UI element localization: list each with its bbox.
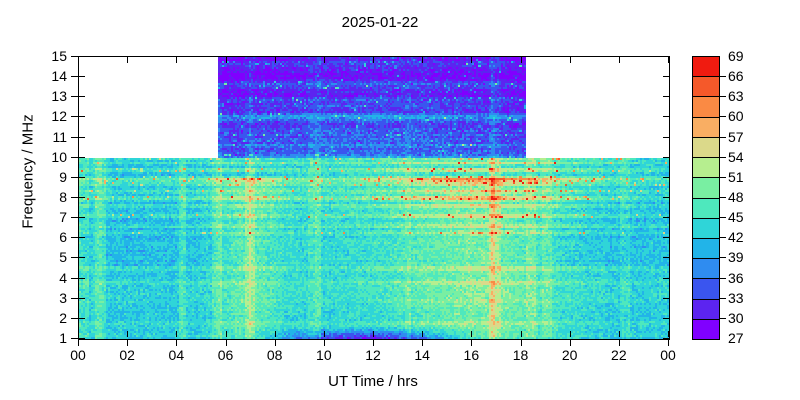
x-tick-label: 00 — [60, 348, 96, 362]
x-tick-mark-inner — [619, 331, 620, 337]
x-tick-mark-top — [521, 57, 522, 63]
y-tick-mark-right — [663, 237, 669, 238]
y-tick-mark-inner — [79, 137, 85, 138]
x-tick-label: 02 — [109, 348, 145, 362]
y-tick-label: 3 — [27, 291, 67, 305]
colorbar-band — [693, 258, 719, 278]
colorbar-tick-label: 27 — [728, 331, 768, 345]
x-tick-label: 16 — [453, 348, 489, 362]
y-tick-mark-right — [663, 96, 669, 97]
colorbar-tick-mark — [720, 76, 726, 77]
x-tick-mark — [521, 339, 522, 346]
y-tick-mark-right — [663, 257, 669, 258]
y-tick-mark — [71, 177, 78, 178]
x-tick-label: 06 — [208, 348, 244, 362]
y-tick-mark-inner — [79, 298, 85, 299]
colorbar-tick-mark — [720, 177, 726, 178]
x-tick-mark-top — [570, 57, 571, 63]
x-tick-mark — [324, 339, 325, 346]
colorbar[interactable] — [692, 56, 720, 340]
y-tick-mark-right — [663, 157, 669, 158]
colorbar-tick-label: 51 — [728, 170, 768, 184]
colorbar-tick-label: 42 — [728, 230, 768, 244]
y-tick-mark-inner — [79, 56, 85, 57]
x-tick-mark — [275, 339, 276, 346]
colorbar-tick-label: 66 — [728, 69, 768, 83]
x-tick-mark-inner — [570, 331, 571, 337]
colorbar-tick-mark — [720, 237, 726, 238]
colorbar-band — [693, 299, 719, 319]
y-tick-mark-right — [663, 298, 669, 299]
x-tick-mark-top — [275, 57, 276, 63]
x-tick-mark — [78, 339, 79, 346]
y-tick-mark — [71, 237, 78, 238]
colorbar-band — [693, 319, 719, 339]
heatmap-canvas[interactable] — [79, 57, 669, 339]
heatmap-plot-area[interactable] — [78, 56, 670, 340]
y-tick-mark-inner — [79, 338, 85, 339]
y-tick-mark — [71, 278, 78, 279]
colorbar-tick-label: 30 — [728, 311, 768, 325]
y-tick-mark-inner — [79, 278, 85, 279]
y-tick-label: 2 — [27, 311, 67, 325]
x-tick-label: 08 — [257, 348, 293, 362]
x-tick-mark-inner — [668, 331, 669, 337]
x-tick-mark — [226, 339, 227, 346]
colorbar-tick-label: 45 — [728, 210, 768, 224]
x-tick-mark-top — [422, 57, 423, 63]
x-tick-mark-inner — [373, 331, 374, 337]
colorbar-tick-label: 63 — [728, 89, 768, 103]
y-tick-mark — [71, 217, 78, 218]
colorbar-band — [693, 278, 719, 298]
y-tick-mark — [71, 76, 78, 77]
colorbar-band — [693, 198, 719, 218]
x-tick-mark-top — [226, 57, 227, 63]
colorbar-tick-label: 69 — [728, 49, 768, 63]
colorbar-tick-mark — [720, 278, 726, 279]
colorbar-band — [693, 76, 719, 96]
y-tick-mark — [71, 318, 78, 319]
x-tick-mark-top — [373, 57, 374, 63]
colorbar-band — [693, 96, 719, 116]
x-tick-mark-top — [127, 57, 128, 63]
y-tick-mark-inner — [79, 76, 85, 77]
colorbar-tick-label: 48 — [728, 190, 768, 204]
colorbar-tick-mark — [720, 257, 726, 258]
x-tick-mark-inner — [226, 331, 227, 337]
y-tick-label: 5 — [27, 250, 67, 264]
x-tick-mark — [471, 339, 472, 346]
x-tick-mark-inner — [176, 331, 177, 337]
colorbar-tick-label: 36 — [728, 271, 768, 285]
colorbar-tick-mark — [720, 116, 726, 117]
colorbar-tick-mark — [720, 318, 726, 319]
x-tick-mark — [422, 339, 423, 346]
x-tick-label: 12 — [355, 348, 391, 362]
y-tick-mark-inner — [79, 217, 85, 218]
x-tick-label: 20 — [552, 348, 588, 362]
y-axis-title: Frequency / MHz — [20, 92, 37, 252]
x-tick-label: 18 — [503, 348, 539, 362]
x-tick-mark-inner — [324, 331, 325, 337]
y-tick-mark-inner — [79, 237, 85, 238]
colorbar-band — [693, 157, 719, 177]
colorbar-band — [693, 137, 719, 157]
colorbar-band — [693, 117, 719, 137]
x-tick-label: 04 — [158, 348, 194, 362]
x-tick-mark — [373, 339, 374, 346]
colorbar-band — [693, 218, 719, 238]
y-tick-mark — [71, 137, 78, 138]
colorbar-tick-mark — [720, 137, 726, 138]
x-tick-mark-top — [668, 57, 669, 63]
y-tick-mark-inner — [79, 116, 85, 117]
y-tick-mark — [71, 96, 78, 97]
y-tick-mark-inner — [79, 257, 85, 258]
x-tick-label: 14 — [404, 348, 440, 362]
y-tick-mark — [71, 298, 78, 299]
y-tick-mark — [71, 157, 78, 158]
x-tick-mark-inner — [127, 331, 128, 337]
y-tick-mark-inner — [79, 96, 85, 97]
colorbar-band — [693, 238, 719, 258]
y-tick-mark-right — [663, 137, 669, 138]
y-tick-mark — [71, 56, 78, 57]
y-tick-mark-inner — [79, 157, 85, 158]
colorbar-tick-mark — [720, 298, 726, 299]
y-tick-mark-inner — [79, 177, 85, 178]
colorbar-tick-mark — [720, 217, 726, 218]
page-title: 2025-01-22 — [0, 14, 760, 31]
spectrogram-figure: 2025-01-22 12345678910111213141500020406… — [0, 0, 800, 400]
y-tick-mark-inner — [79, 197, 85, 198]
x-tick-mark-inner — [422, 331, 423, 337]
x-tick-label: 22 — [601, 348, 637, 362]
y-tick-mark — [71, 257, 78, 258]
x-tick-mark-inner — [471, 331, 472, 337]
x-tick-mark-inner — [521, 331, 522, 337]
x-tick-mark — [176, 339, 177, 346]
y-tick-label: 15 — [27, 49, 67, 63]
x-axis-title: UT Time / hrs — [78, 373, 668, 390]
y-tick-mark-inner — [79, 318, 85, 319]
colorbar-tick-mark — [720, 157, 726, 158]
x-tick-mark — [127, 339, 128, 346]
colorbar-tick-label: 57 — [728, 130, 768, 144]
x-tick-mark-top — [619, 57, 620, 63]
colorbar-tick-label: 54 — [728, 150, 768, 164]
x-tick-mark — [619, 339, 620, 346]
x-tick-mark-inner — [78, 331, 79, 337]
colorbar-tick-mark — [720, 197, 726, 198]
x-tick-mark — [570, 339, 571, 346]
y-tick-mark-right — [663, 76, 669, 77]
x-tick-mark-inner — [275, 331, 276, 337]
colorbar-band — [693, 177, 719, 197]
colorbar-band — [693, 57, 719, 76]
x-tick-mark-top — [78, 57, 79, 63]
y-tick-mark-right — [663, 116, 669, 117]
x-tick-mark-top — [176, 57, 177, 63]
x-tick-mark-top — [324, 57, 325, 63]
y-tick-mark-right — [663, 217, 669, 218]
y-tick-label: 4 — [27, 271, 67, 285]
colorbar-tick-label: 39 — [728, 250, 768, 264]
x-tick-mark-top — [471, 57, 472, 63]
y-tick-mark — [71, 116, 78, 117]
y-tick-mark — [71, 197, 78, 198]
y-tick-mark-right — [663, 197, 669, 198]
y-tick-mark-right — [663, 177, 669, 178]
y-tick-mark-right — [663, 278, 669, 279]
y-tick-mark-right — [663, 318, 669, 319]
y-tick-mark — [71, 338, 78, 339]
x-tick-label: 10 — [306, 348, 342, 362]
y-tick-label: 1 — [27, 331, 67, 345]
colorbar-tick-label: 60 — [728, 109, 768, 123]
colorbar-tick-mark — [720, 96, 726, 97]
y-tick-label: 14 — [27, 69, 67, 83]
colorbar-tick-label: 33 — [728, 291, 768, 305]
x-tick-label: 00 — [650, 348, 686, 362]
x-tick-mark — [668, 339, 669, 346]
